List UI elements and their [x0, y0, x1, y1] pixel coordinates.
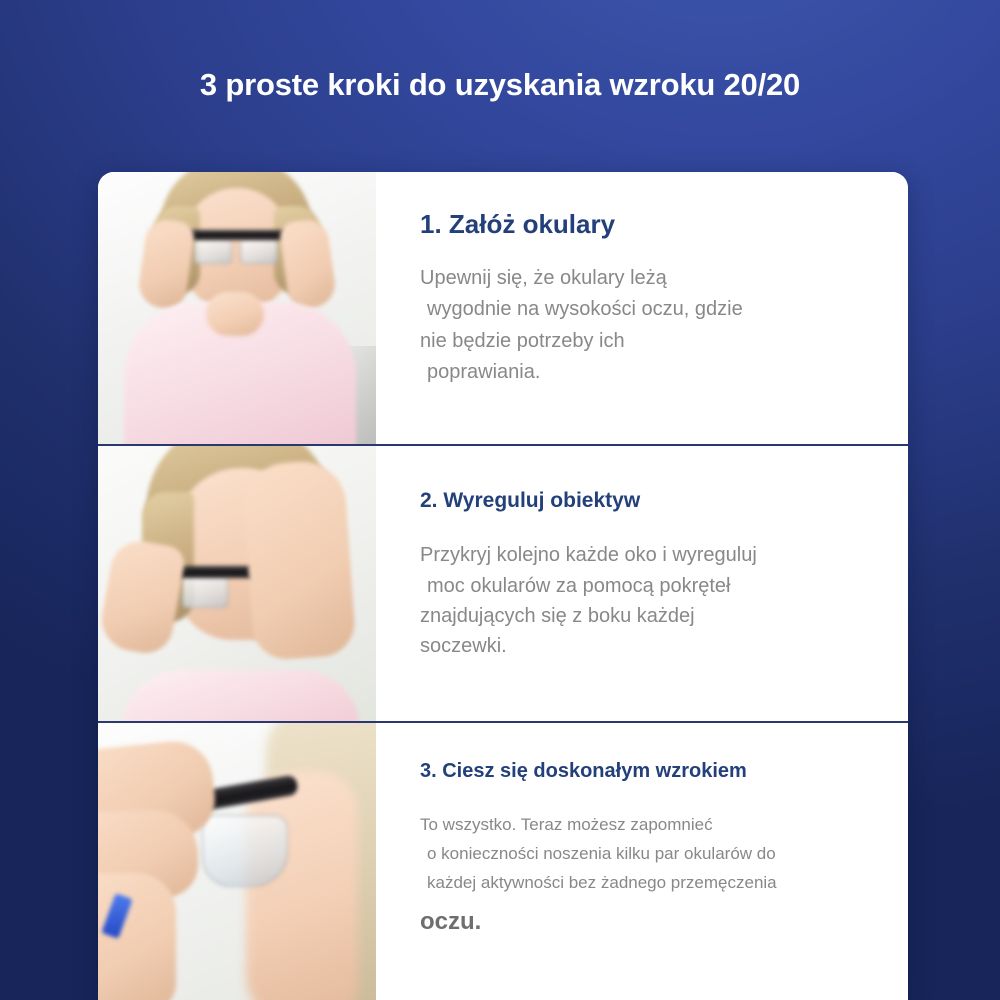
lens-right — [240, 238, 278, 264]
body-line: Przykryj kolejno każde oko i wyreguluj — [420, 540, 866, 570]
page-title: 3 proste kroki do uzyskania wzroku 20/20 — [0, 66, 1000, 103]
hand-covering-eye — [241, 459, 356, 662]
neck-shape — [206, 292, 264, 336]
step-3-heading: 3. Ciesz się doskonałym wzrokiem — [420, 759, 866, 784]
step-2-body: Przykryj kolejno każde oko i wyreguluj m… — [420, 540, 866, 662]
step-3-photo — [98, 723, 376, 1000]
face-shape — [246, 771, 358, 1000]
body-line: poprawiania. — [420, 357, 866, 389]
body-line: moc okularów za pomocą pokręteł — [420, 571, 866, 601]
body-line: To wszystko. Teraz możesz zapomnieć — [420, 810, 866, 839]
step-row-3: 3. Ciesz się doskonałym wzrokiem To wszy… — [98, 723, 908, 1000]
body-tail: oczu. — [420, 901, 866, 942]
body-line: nie będzie potrzeby ich — [420, 326, 866, 358]
body-line: soczewki. — [420, 631, 866, 661]
hand-lower — [98, 873, 176, 1000]
step-1-content: 1. Załóż okulary Upewnij się, że okulary… — [376, 172, 908, 444]
body-line: o konieczności noszenia kilku par okular… — [420, 839, 866, 868]
body-line: znajdujących się z boku każdej — [420, 601, 866, 631]
step-2-content: 2. Wyreguluj obiektyw Przykryj kolejno k… — [376, 446, 908, 721]
steps-card: 1. Załóż okulary Upewnij się, że okulary… — [98, 172, 908, 1000]
lens-left — [182, 574, 228, 608]
body-line: Upewnij się, że okulary leżą — [420, 263, 866, 295]
lens-left — [194, 238, 232, 264]
body-line: każdej aktywności bez żadnego przemęczen… — [420, 868, 866, 897]
step-3-body: To wszystko. Teraz możesz zapomnieć o ko… — [420, 810, 866, 942]
step-1-photo — [98, 172, 376, 444]
glasses-frame — [186, 230, 288, 240]
step-row-2: 2. Wyreguluj obiektyw Przykryj kolejno k… — [98, 446, 908, 723]
step-1-heading: 1. Załóż okulary — [420, 208, 866, 241]
body-line: wygodnie na wysokości oczu, gdzie — [420, 294, 866, 326]
step-3-content: 3. Ciesz się doskonałym wzrokiem To wszy… — [376, 723, 908, 1000]
step-2-photo — [98, 446, 376, 721]
step-1-body: Upewnij się, że okulary leżą wygodnie na… — [420, 263, 866, 389]
step-row-1: 1. Załóż okulary Upewnij się, że okulary… — [98, 172, 908, 446]
lens-closeup — [202, 815, 288, 887]
shirt-shape — [122, 670, 360, 721]
step-2-heading: 2. Wyreguluj obiektyw — [420, 488, 866, 514]
